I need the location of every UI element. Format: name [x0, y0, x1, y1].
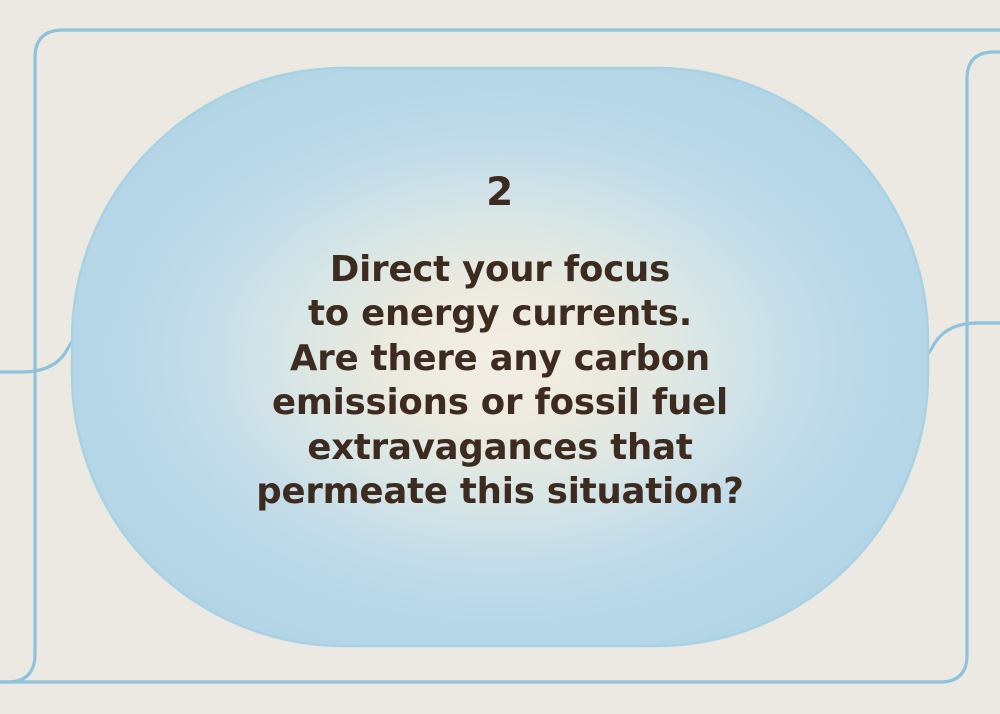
prompt-text: Direct your focus to energy currents. Ar…: [242, 248, 757, 514]
bottom-right-corner-line: [940, 330, 967, 682]
top-right-corner-line: [967, 52, 1000, 330]
reflection-prompt-card: 2 Direct your focus to energy currents. …: [0, 0, 1000, 714]
left-vertical-lower-line: [0, 330, 35, 682]
card-content: 2 Direct your focus to energy currents. …: [72, 68, 928, 646]
top-left-corner-line: [35, 30, 63, 330]
step-number: 2: [486, 173, 514, 212]
